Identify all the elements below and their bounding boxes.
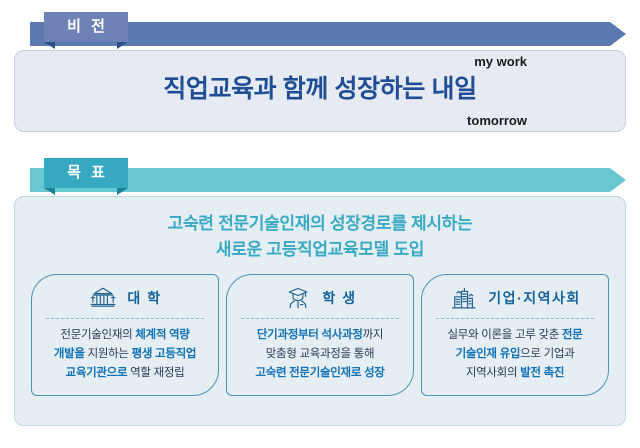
graduate-student-icon <box>283 285 313 311</box>
goal-cards: 대 학 전문기술인재의 체계적 역량개발을 지원하는 평생 고등직업교육기관으로… <box>15 263 625 396</box>
highlighted-text: 발전 촉진 <box>520 367 564 379</box>
card-body: 전문기술인재의 체계적 역량개발을 지원하는 평생 고등직업교육기관으로 역할 … <box>38 319 212 383</box>
highlighted-text: 평생 고등직업 <box>132 348 197 360</box>
body-text: 맞춤형 교육과정을 통해 <box>266 348 375 360</box>
body-text: 으로 기업과 <box>520 348 574 360</box>
card-body-line: 실무와 이론을 고루 갖춘 전문 <box>428 326 602 345</box>
body-text: 까지 <box>363 329 384 341</box>
card-header: 학 생 <box>233 282 407 314</box>
goal-headline-line-2: 새로운 고등직업교육모델 도입 <box>15 237 625 263</box>
vision-headline: 직업교육과 함께 성장하는 내일 <box>15 69 625 105</box>
goal-card-student[interactable]: 학 생 단기과정부터 석사과정까지맞춤형 교육과정을 통해고숙련 전문기술인재로… <box>226 274 414 396</box>
goal-tab-label: 목 표 <box>44 158 128 188</box>
highlighted-text: 교육기관으로 <box>66 367 128 379</box>
card-body-line: 맞춤형 교육과정을 통해 <box>233 345 407 364</box>
card-body: 실무와 이론을 고루 갖춘 전문기술인재 유입으로 기업과지역사회의 발전 촉진 <box>428 319 602 383</box>
goal-headline: 고숙련 전문기술인재의 성장경로를 제시하는 새로운 고등직업교육모델 도입 <box>15 197 625 263</box>
goal-ribbon: 목 표 <box>14 158 626 196</box>
card-body-line: 기술인재 유입으로 기업과 <box>428 345 602 364</box>
vision-section: 비 전 my work 직업교육과 함께 성장하는 내일 tomorrow <box>14 12 626 132</box>
goal-headline-line-1: 고숙련 전문기술인재의 성장경로를 제시하는 <box>15 211 625 237</box>
highlighted-text: 전문 <box>562 329 583 341</box>
card-title: 학 생 <box>322 288 356 308</box>
city-buildings-icon <box>449 285 479 311</box>
goal-card-university[interactable]: 대 학 전문기술인재의 체계적 역량개발을 지원하는 평생 고등직업교육기관으로… <box>31 274 219 396</box>
card-body: 단기과정부터 석사과정까지맞춤형 교육과정을 통해고숙련 전문기술인재로 성장 <box>233 319 407 383</box>
highlighted-text: 고숙련 전문기술인재로 성장 <box>255 367 384 379</box>
goal-card-enterprise-community[interactable]: 기업·지역사회 실무와 이론을 고루 갖춘 전문기술인재 유입으로 기업과지역사… <box>421 274 609 396</box>
vision-superscript: my work <box>474 54 527 69</box>
card-header: 대 학 <box>38 282 212 314</box>
card-body-line: 전문기술인재의 체계적 역량 <box>38 326 212 345</box>
body-text: 지역사회의 <box>466 367 520 379</box>
body-text: 전문기술인재의 <box>60 329 135 341</box>
body-text: 실무와 이론을 고루 갖춘 <box>448 329 562 341</box>
vision-panel: my work 직업교육과 함께 성장하는 내일 tomorrow <box>14 50 626 132</box>
body-text: 지원하는 <box>85 348 132 360</box>
card-body-line: 지역사회의 발전 촉진 <box>428 364 602 383</box>
highlighted-text: 개발을 <box>54 348 85 360</box>
highlighted-text: 기술인재 유입 <box>456 348 521 360</box>
vision-subscript: tomorrow <box>467 113 527 128</box>
goal-panel: 고숙련 전문기술인재의 성장경로를 제시하는 새로운 고등직업교육모델 도입 <box>14 196 626 426</box>
card-body-line: 개발을 지원하는 평생 고등직업 <box>38 345 212 364</box>
card-title: 대 학 <box>127 288 161 308</box>
goal-section: 목 표 고숙련 전문기술인재의 성장경로를 제시하는 새로운 고등직업교육모델 … <box>14 158 626 426</box>
card-header: 기업·지역사회 <box>428 282 602 314</box>
classical-building-icon <box>88 285 118 311</box>
card-body-line: 고숙련 전문기술인재로 성장 <box>233 364 407 383</box>
infographic-page: 비 전 my work 직업교육과 함께 성장하는 내일 tomorrow 목 … <box>0 0 640 448</box>
highlighted-text: 단기과정부터 석사과정 <box>257 329 363 341</box>
card-title: 기업·지역사회 <box>488 288 580 308</box>
highlighted-text: 체계적 역량 <box>135 329 189 341</box>
vision-tab-label: 비 전 <box>44 12 128 42</box>
vision-ribbon: 비 전 <box>14 12 626 50</box>
card-body-line: 교육기관으로 역할 재정립 <box>38 364 212 383</box>
body-text: 역할 재정립 <box>127 367 184 379</box>
card-body-line: 단기과정부터 석사과정까지 <box>233 326 407 345</box>
